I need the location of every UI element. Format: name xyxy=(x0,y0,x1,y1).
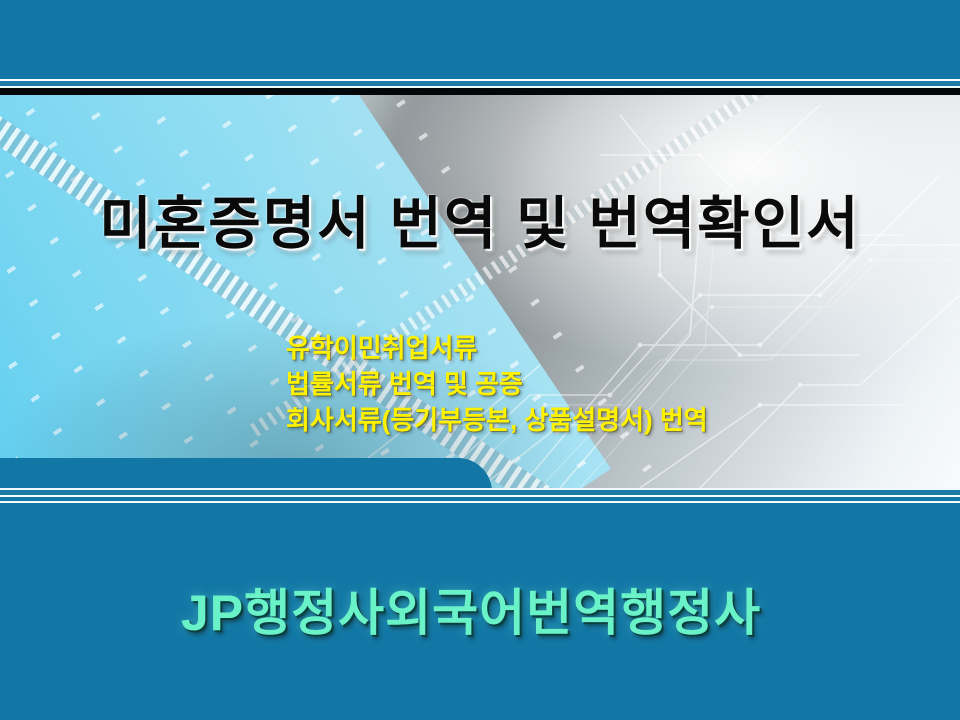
blue-rounded-shelf xyxy=(0,458,492,492)
subtitle-line-3: 회사서류(등기부등본, 상품설명서) 번역 xyxy=(286,402,926,438)
top-blue-band xyxy=(0,0,960,79)
subtitle-line-1: 유학이민취업서류 xyxy=(286,330,926,366)
subtitle-list: 유학이민취업서류 법률서류 번역 및 공증 회사서류(등기부등본, 상품설명서)… xyxy=(286,330,926,438)
presentation-slide: 미혼증명서 번역 및 번역확인서 유학이민취업서류 법률서류 번역 및 공증 회… xyxy=(0,0,960,720)
top-black-bar xyxy=(0,88,960,95)
subtitle-line-2: 법률서류 번역 및 공증 xyxy=(286,366,926,402)
slide-title: 미혼증명서 번역 및 번역확인서 xyxy=(0,178,960,260)
brand-name: JP행정사외국어번역행정사 xyxy=(0,573,960,645)
